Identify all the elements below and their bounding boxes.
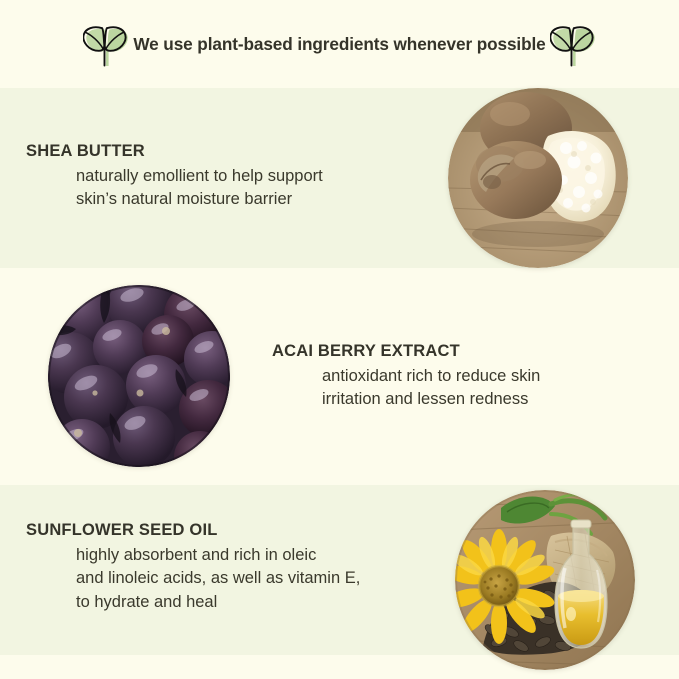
description-line: skin’s natural moisture barrier xyxy=(76,188,426,211)
description-line: and linoleic acids, as well as vitamin E… xyxy=(76,567,456,590)
leaf-sprout-icon xyxy=(83,20,129,68)
ingredient-description: antioxidant rich to reduce skin irritati… xyxy=(272,365,672,412)
page-title: We use plant-based ingredients whenever … xyxy=(133,34,545,55)
acai-berry-photo xyxy=(48,285,230,467)
ingredient-title: SHEA BUTTER xyxy=(26,142,426,161)
ingredient-banner: We use plant-based ingredients whenever … xyxy=(0,0,679,679)
ingredient-description: naturally emollient to help support skin… xyxy=(26,165,426,212)
ingredient-title: ACAI BERRY EXTRACT xyxy=(272,342,672,361)
ingredient-sunflower-seed-oil: SUNFLOWER SEED OIL highly absorbent and … xyxy=(26,521,456,614)
ingredient-title: SUNFLOWER SEED OIL xyxy=(26,521,456,540)
description-line: to hydrate and heal xyxy=(76,591,456,614)
leaf-sprout-icon xyxy=(550,20,596,68)
ingredient-acai-berry-extract: ACAI BERRY EXTRACT antioxidant rich to r… xyxy=(272,342,672,412)
header: We use plant-based ingredients whenever … xyxy=(0,0,679,88)
description-line: irritation and lessen redness xyxy=(322,388,672,411)
shea-butter-photo xyxy=(448,88,628,268)
description-line: antioxidant rich to reduce skin xyxy=(322,365,672,388)
description-line: naturally emollient to help support xyxy=(76,165,426,188)
ingredient-shea-butter: SHEA BUTTER naturally emollient to help … xyxy=(26,142,426,212)
sunflower-seed-oil-photo xyxy=(455,490,635,670)
description-line: highly absorbent and rich in oleic xyxy=(76,544,456,567)
ingredient-description: highly absorbent and rich in oleic and l… xyxy=(26,544,456,614)
